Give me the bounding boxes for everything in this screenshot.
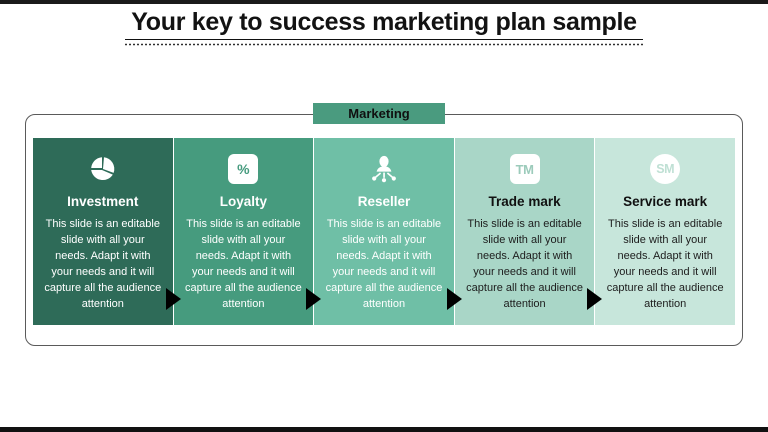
top-edge-bar [0, 0, 768, 4]
column-body: This slide is an editable slide with all… [184, 216, 304, 313]
pie-chart-icon [84, 150, 122, 188]
service-mark-icon-badge: SM [650, 154, 680, 184]
bottom-edge-bar [0, 427, 768, 432]
marketing-header-tab-label: Marketing [348, 106, 409, 121]
column-title: Loyalty [220, 194, 267, 210]
column-investment[interactable]: Investment This slide is an editable sli… [33, 138, 174, 325]
person-network-icon [365, 150, 403, 188]
arrow-connector-1 [166, 288, 181, 310]
slide-canvas: Your key to success marketing plan sampl… [0, 0, 768, 432]
arrow-connector-2 [306, 288, 321, 310]
arrow-connector-3 [447, 288, 462, 310]
percent-icon-badge: % [228, 154, 258, 184]
slide-title-block: Your key to success marketing plan sampl… [0, 8, 768, 46]
column-title: Trade mark [489, 194, 561, 210]
marketing-header-tab[interactable]: Marketing [313, 103, 445, 124]
column-body: This slide is an editable slide with all… [605, 216, 725, 313]
column-reseller[interactable]: Reseller This slide is an editable slide… [314, 138, 455, 325]
trademark-icon: TM [506, 150, 544, 188]
column-loyalty[interactable]: % Loyalty This slide is an editable slid… [174, 138, 315, 325]
trademark-icon-badge: TM [510, 154, 540, 184]
page-title: Your key to success marketing plan sampl… [125, 8, 643, 40]
column-title: Service mark [623, 194, 707, 210]
column-service-mark[interactable]: SM Service mark This slide is an editabl… [595, 138, 735, 325]
title-dotted-underline [124, 43, 644, 46]
column-title: Investment [67, 194, 138, 210]
column-title: Reseller [358, 194, 411, 210]
columns-container: Investment This slide is an editable sli… [33, 138, 735, 325]
column-body: This slide is an editable slide with all… [465, 216, 585, 313]
column-body: This slide is an editable slide with all… [43, 216, 163, 313]
percent-icon: % [224, 150, 262, 188]
arrow-connector-4 [587, 288, 602, 310]
service-mark-icon: SM [646, 150, 684, 188]
column-trade-mark[interactable]: TM Trade mark This slide is an editable … [455, 138, 596, 325]
column-body: This slide is an editable slide with all… [324, 216, 444, 313]
